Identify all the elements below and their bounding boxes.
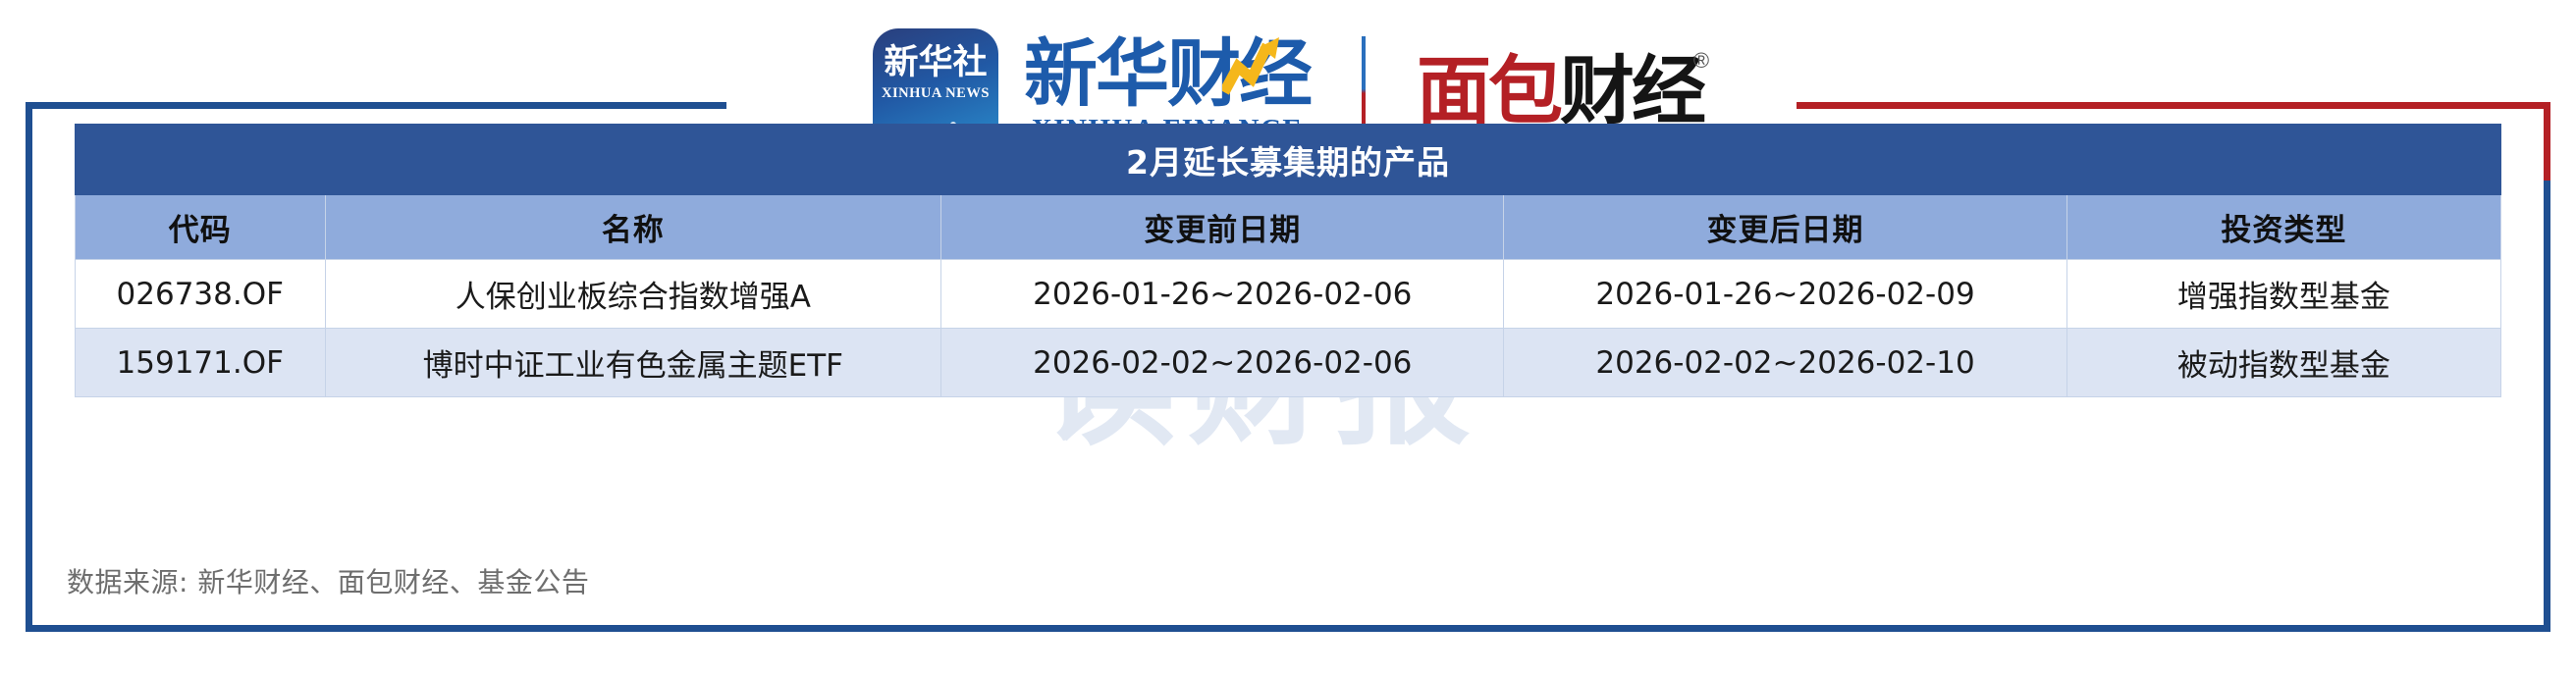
- cell-code: 026738.OF: [76, 260, 326, 329]
- cell-name: 人保创业板综合指数增强A: [325, 260, 941, 329]
- cell-code: 159171.OF: [76, 329, 326, 397]
- frame-top-gap: [726, 96, 1885, 116]
- column-header-date-before: 变更前日期: [941, 195, 1504, 260]
- column-header-invest-type: 投资类型: [2066, 195, 2500, 260]
- cell-name: 博时中证工业有色金属主题ETF: [325, 329, 941, 397]
- table-title: 2月延长募集期的产品: [76, 125, 2501, 195]
- table-title-row: 2月延长募集期的产品: [76, 125, 2501, 195]
- fund-extension-table: 2月延长募集期的产品 代码 名称 变更前日期 变更后日期 投资类型 026738…: [75, 124, 2501, 397]
- frame-top-accent-right: [1797, 102, 2550, 109]
- table-row: 026738.OF 人保创业板综合指数增强A 2026-01-26~2026-0…: [76, 260, 2501, 329]
- column-header-date-after: 变更后日期: [1504, 195, 2066, 260]
- frame-right-accent: [2544, 102, 2550, 181]
- data-source-note: 数据来源: 新华财经、面包财经、基金公告: [67, 561, 589, 600]
- cell-date-after: 2026-01-26~2026-02-09: [1504, 260, 2066, 329]
- cell-date-before: 2026-02-02~2026-02-06: [941, 329, 1504, 397]
- cell-invest-type: 被动指数型基金: [2066, 329, 2500, 397]
- cell-invest-type: 增强指数型基金: [2066, 260, 2500, 329]
- cell-date-before: 2026-01-26~2026-02-06: [941, 260, 1504, 329]
- xinhua-news-cn-label: 新华社: [884, 46, 987, 80]
- rising-arrow-icon: [1222, 31, 1283, 96]
- column-header-code: 代码: [76, 195, 326, 260]
- registered-trademark-icon: ®: [1693, 48, 1709, 74]
- cell-date-after: 2026-02-02~2026-02-10: [1504, 329, 2066, 397]
- infographic-page: 新华社 XINHUA NEWS: [0, 0, 2576, 675]
- table-header-row: 代码 名称 变更前日期 变更后日期 投资类型: [76, 195, 2501, 260]
- column-header-name: 名称: [325, 195, 941, 260]
- table-row: 159171.OF 博时中证工业有色金属主题ETF 2026-02-02~202…: [76, 329, 2501, 397]
- data-table-container: 2月延长募集期的产品 代码 名称 变更前日期 变更后日期 投资类型 026738…: [75, 124, 2501, 397]
